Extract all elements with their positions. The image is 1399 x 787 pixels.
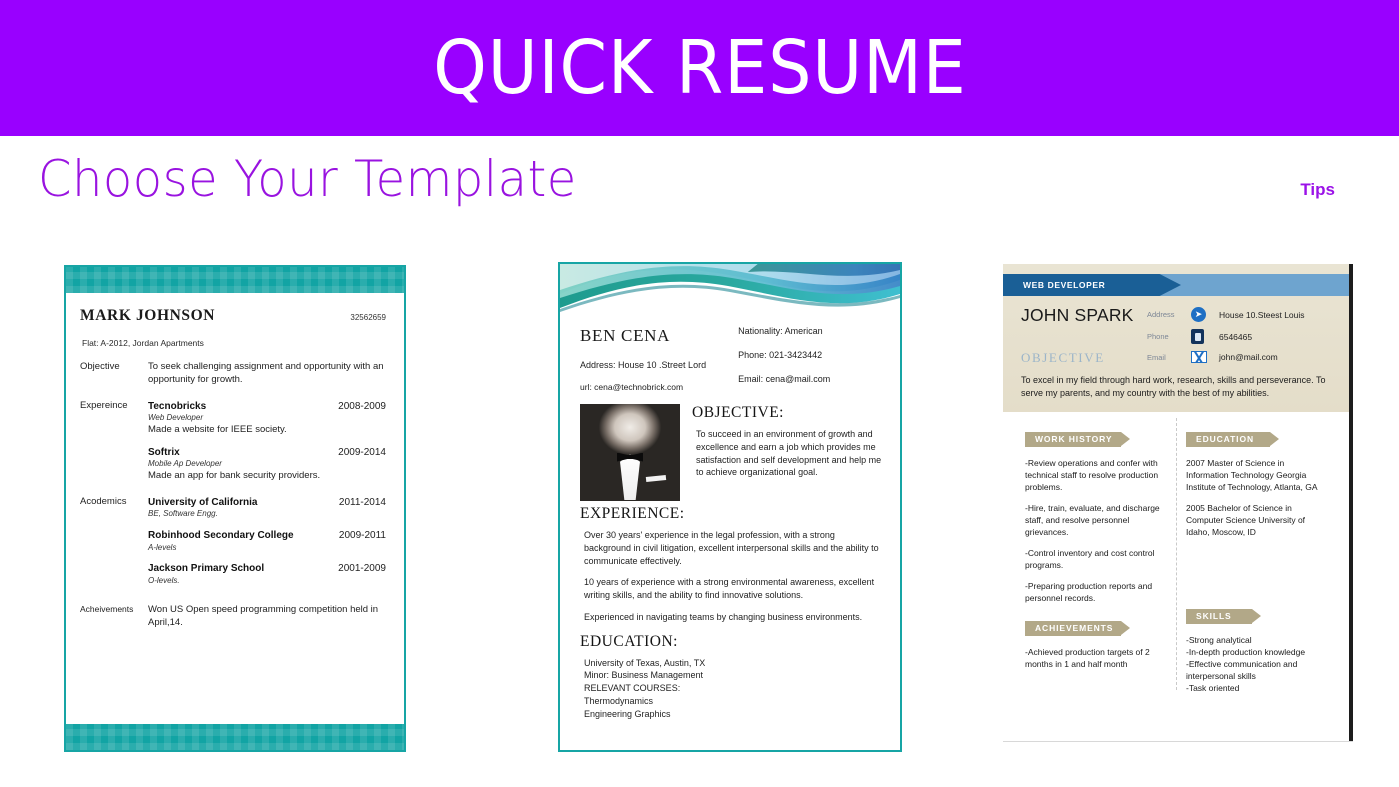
work-history-label: WORK HISTORY xyxy=(1025,432,1121,447)
template2-contact-row: BEN CENA Address: House 10 .Street Lord … xyxy=(580,320,884,398)
achievements-label: ACHIEVEMENTS xyxy=(1025,621,1121,636)
role-arrow-shape: WEB DEVELOPER xyxy=(1003,274,1181,296)
contact-value: 6546465 xyxy=(1219,332,1252,342)
contact-value: john@mail.com xyxy=(1219,352,1278,362)
template2-contact-left: BEN CENA Address: House 10 .Street Lord … xyxy=(580,320,738,398)
template2-education-line: Engineering Graphics xyxy=(584,708,884,721)
education-item: 2005 Bachelor of Science in Computer Sci… xyxy=(1186,502,1327,538)
template2-experience-paragraph: Experienced in navigating teams by chang… xyxy=(580,611,884,624)
template2-url: url: cena@technobrick.com xyxy=(580,382,738,392)
contact-value: House 10.Steest Louis xyxy=(1219,310,1305,320)
mail-icon xyxy=(1191,351,1219,363)
template-card-3[interactable]: WEB DEVELOPER JOHN SPARK OBJECTIVE Addre… xyxy=(1003,264,1353,741)
template1-experience-section: Expereince Tecnobricks 2008-2009 Web Dev… xyxy=(80,400,386,483)
template2-address: Address: House 10 .Street Lord xyxy=(580,360,738,370)
template1-job-desc: Made a website for IEEE society. xyxy=(148,424,386,437)
template2-body: BEN CENA Address: House 10 .Street Lord … xyxy=(560,316,900,728)
template2-education-list: University of Texas, Austin, TX Minor: B… xyxy=(580,657,884,721)
template1-job: Tecnobricks 2008-2009 Web Developer Made… xyxy=(148,400,386,437)
template3-header: WEB DEVELOPER JOHN SPARK OBJECTIVE Addre… xyxy=(1003,264,1349,412)
template1-experience-list: Tecnobricks 2008-2009 Web Developer Made… xyxy=(148,400,386,483)
education-tag: EDUCATION xyxy=(1186,432,1270,447)
contact-row-email: Email john@mail.com xyxy=(1147,351,1339,363)
template1-school-name: Jackson Primary School xyxy=(148,562,264,576)
template3-role-text: WEB DEVELOPER xyxy=(1023,280,1105,290)
template1-experience-label: Expereince xyxy=(80,400,148,483)
template1-achievements-text: Won US Open speed programming competitio… xyxy=(148,604,386,630)
education-label: EDUCATION xyxy=(1186,432,1270,447)
subhead-row: Choose Your Template Tips xyxy=(0,136,1399,246)
template2-experience-heading: EXPERIENCE: xyxy=(580,505,884,523)
template1-job-role: Web Developer xyxy=(148,413,386,424)
template2-education-line: RELEVANT COURSES: xyxy=(584,682,884,695)
template1-school: University of California 2011-2014 BE, S… xyxy=(148,496,386,520)
template1-academics-section: Acodemics University of California 2011-… xyxy=(80,496,386,587)
education-item: 2007 Master of Science in Information Te… xyxy=(1186,457,1327,493)
template2-objective-heading: OBJECTIVE: xyxy=(692,404,884,422)
template3-contacts: Address ➤ House 10.Steest Louis Phone 65… xyxy=(1147,305,1339,370)
template1-school-date: 2011-2014 xyxy=(339,496,386,510)
template1-school-detail: A-levels xyxy=(148,543,386,554)
template2-education-line: Thermodynamics xyxy=(584,695,884,708)
achievements-item: -Achieved production targets of 2 months… xyxy=(1025,646,1166,670)
template1-objective-section: Objective To seek challenging assignment… xyxy=(80,361,386,387)
template2-experience-paragraph: 10 years of experience with a strong env… xyxy=(580,576,884,602)
template1-objective-label: Objective xyxy=(80,361,148,387)
template1-school-date: 2001-2009 xyxy=(338,562,386,576)
template3-person-name: JOHN SPARK xyxy=(1021,305,1147,326)
skills-item: -Strong analytical xyxy=(1186,634,1327,646)
work-history-tag: WORK HISTORY xyxy=(1025,432,1121,447)
contact-row-phone: Phone 6546465 xyxy=(1147,329,1339,344)
skills-item: -Effective communication and interperson… xyxy=(1186,658,1327,682)
template1-achievements-section: Acheivements Won US Open speed programmi… xyxy=(80,604,386,630)
template1-job-company: Softrix xyxy=(148,446,180,460)
template2-education-line: University of Texas, Austin, TX xyxy=(584,657,884,670)
template1-achievements-label: Acheivements xyxy=(80,604,148,630)
achievements-tag: ACHIEVEMENTS xyxy=(1025,621,1121,636)
template1-job-date: 2009-2014 xyxy=(338,446,386,460)
template2-education-heading: EDUCATION: xyxy=(580,633,884,651)
skills-label: SKILLS xyxy=(1186,609,1252,624)
template3-info: JOHN SPARK OBJECTIVE Address ➤ House 10.… xyxy=(1003,296,1349,370)
template1-job-role: Mobile Ap Developer xyxy=(148,459,386,470)
template-gallery: MARK JOHNSON 32562659 Flat: A-2012, Jord… xyxy=(0,246,1399,787)
template1-name-row: MARK JOHNSON 32562659 xyxy=(80,307,386,325)
template2-objective-row: OBJECTIVE: To succeed in an environment … xyxy=(580,404,884,501)
template1-job-desc: Made an app for bank security providers. xyxy=(148,470,386,483)
quick-resume-page: QUICK RESUME Choose Your Template Tips M… xyxy=(0,0,1399,787)
template3-info-left: JOHN SPARK OBJECTIVE xyxy=(1021,305,1147,370)
template1-address: Flat: A-2012, Jordan Apartments xyxy=(82,338,386,348)
template2-education-line: Minor: Business Management xyxy=(584,669,884,682)
template3-left-column: WORK HISTORY -Review operations and conf… xyxy=(1015,424,1176,695)
contact-label: Phone xyxy=(1147,332,1191,341)
work-history-item: -Hire, train, evaluate, and discharge st… xyxy=(1025,502,1166,538)
template3-columns: WORK HISTORY -Review operations and conf… xyxy=(1003,412,1349,695)
template2-objective-text: To succeed in an environment of growth a… xyxy=(692,428,884,479)
app-banner: QUICK RESUME xyxy=(0,0,1399,136)
work-history-item: -Review operations and confer with techn… xyxy=(1025,457,1166,493)
template1-academics-label: Acodemics xyxy=(80,496,148,587)
template1-school: Robinhood Secondary College 2009-2011 A-… xyxy=(148,529,386,553)
phone-icon xyxy=(1191,329,1219,344)
skills-item: -In-depth production knowledge xyxy=(1186,646,1327,658)
template3-role-band: WEB DEVELOPER xyxy=(1003,274,1349,296)
template1-body: MARK JOHNSON 32562659 Flat: A-2012, Jord… xyxy=(66,293,404,635)
template1-school-name: Robinhood Secondary College xyxy=(148,529,294,543)
template2-nationality: Nationality: American xyxy=(738,326,884,336)
contact-label: Email xyxy=(1147,353,1191,362)
template1-id-number: 32562659 xyxy=(350,313,386,322)
template1-job: Softrix 2009-2014 Mobile Ap Developer Ma… xyxy=(148,446,386,483)
template3-right-column: EDUCATION 2007 Master of Science in Info… xyxy=(1176,424,1337,695)
template1-person-name: MARK JOHNSON xyxy=(80,307,215,325)
contact-label: Address xyxy=(1147,310,1191,319)
template1-job-date: 2008-2009 xyxy=(338,400,386,414)
template1-job-company: Tecnobricks xyxy=(148,400,206,414)
template1-bottom-bar xyxy=(66,724,404,750)
template1-school-detail: BE, Software Engg. xyxy=(148,509,386,520)
arrow-right-icon: ➤ xyxy=(1191,307,1219,322)
template-card-2[interactable]: BEN CENA Address: House 10 .Street Lord … xyxy=(558,262,902,752)
template1-academics-list: University of California 2011-2014 BE, S… xyxy=(148,496,386,587)
template1-objective-text: To seek challenging assignment and oppor… xyxy=(148,361,386,387)
template1-top-bar xyxy=(66,267,404,293)
template1-school-name: University of California xyxy=(148,496,257,510)
template2-person-name: BEN CENA xyxy=(580,326,738,346)
template-card-1[interactable]: MARK JOHNSON 32562659 Flat: A-2012, Jord… xyxy=(64,265,406,752)
app-title: QUICK RESUME xyxy=(433,31,966,105)
template3-objective-text: To excel in my field through hard work, … xyxy=(1003,370,1349,412)
skills-tag: SKILLS xyxy=(1186,609,1252,624)
template1-school-date: 2009-2011 xyxy=(339,529,386,543)
work-history-item: -Control inventory and cost control prog… xyxy=(1025,547,1166,571)
template2-phone: Phone: 021-3423442 xyxy=(738,350,884,360)
template2-contact-right: Nationality: American Phone: 021-3423442… xyxy=(738,320,884,398)
template2-experience-paragraph: Over 30 years' experience in the legal p… xyxy=(580,529,884,567)
template2-objective-col: OBJECTIVE: To succeed in an environment … xyxy=(692,404,884,501)
wave-graphic xyxy=(560,264,900,316)
skills-item: -Task oriented xyxy=(1186,682,1327,694)
template3-objective-label: OBJECTIVE xyxy=(1021,350,1147,366)
page-title: Choose Your Template xyxy=(38,150,577,208)
template1-school: Jackson Primary School 2001-2009 O-level… xyxy=(148,562,386,586)
avatar-photo xyxy=(580,404,680,501)
contact-row-address: Address ➤ House 10.Steest Louis xyxy=(1147,307,1339,322)
template1-school-detail: O-levels. xyxy=(148,576,386,587)
work-history-item: -Preparing production reports and person… xyxy=(1025,580,1166,604)
tips-link[interactable]: Tips xyxy=(1300,180,1335,200)
template2-email: Email: cena@mail.com xyxy=(738,374,884,384)
